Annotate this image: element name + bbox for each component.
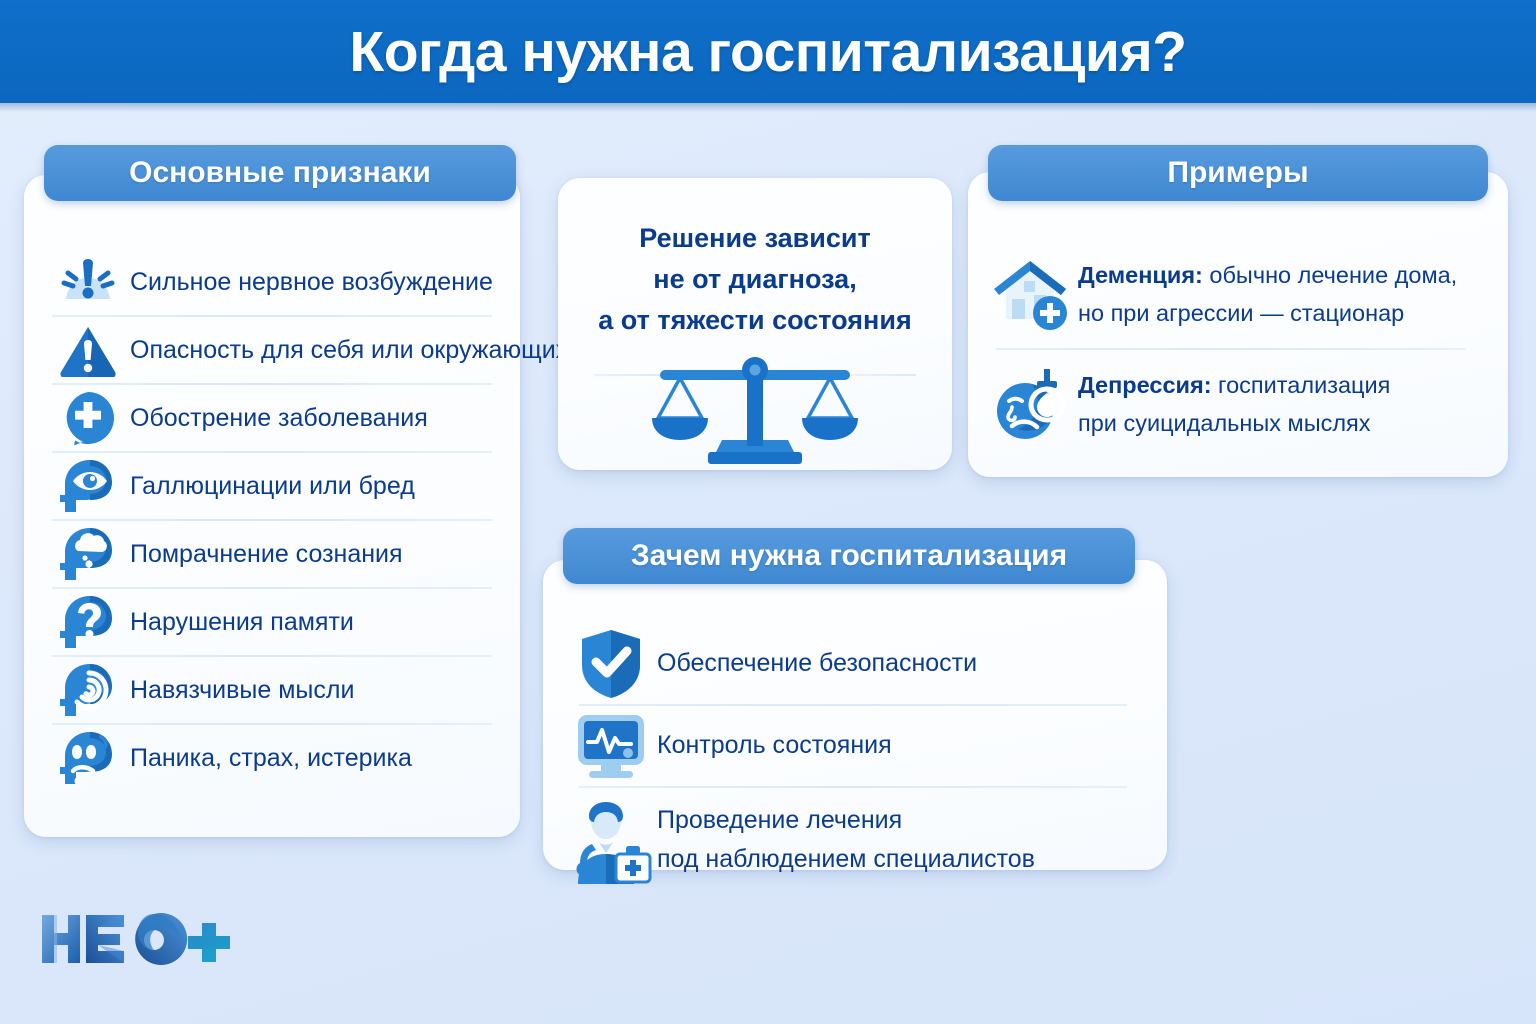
list-item[interactable]: Опасность для себя или окружающих xyxy=(46,317,498,383)
signs-list: Сильное нервное возбуждение Опасность дл… xyxy=(46,249,498,791)
balance-scales-icon xyxy=(646,356,864,469)
list-item[interactable]: Галлюцинации или бред xyxy=(46,453,498,519)
medical-cross-speech-icon xyxy=(50,390,126,446)
list-item-label: Обострение заболевания xyxy=(130,402,428,434)
head-question-icon xyxy=(50,593,126,651)
list-item-label: Галлюцинации или бред xyxy=(130,470,415,502)
list-item[interactable]: Паника, страх, истерика xyxy=(46,725,498,791)
decision-card: Решение зависит не от диагноза, а от тяж… xyxy=(558,178,952,470)
example-line-1: обычно лечение дома, xyxy=(1203,262,1457,288)
signs-card: Сильное нервное возбуждение Опасность дл… xyxy=(24,175,520,837)
list-item-label: Контроль состояния xyxy=(657,726,892,766)
list-item[interactable]: Обострение заболевания xyxy=(46,385,498,451)
list-item-label: Паника, страх, истерика xyxy=(130,742,412,774)
decision-line-2: не от диагноза, xyxy=(558,259,952,300)
signs-card-header: Основные признаки xyxy=(44,145,516,201)
example-line-2: но при агрессии — стационар xyxy=(1078,300,1404,326)
ecg-monitor-icon xyxy=(565,712,657,780)
list-item[interactable]: Контроль состояния xyxy=(565,706,1145,786)
warning-triangle-icon xyxy=(50,323,126,377)
examples-card-header-label: Примеры xyxy=(1167,156,1308,190)
list-item-label: Сильное нервное возбуждение xyxy=(130,266,493,298)
list-item[interactable]: Депрессия: госпитализация при суицидальн… xyxy=(986,350,1490,458)
decision-statement: Решение зависит не от диагноза, а от тяж… xyxy=(558,218,952,341)
examples-card-header: Примеры xyxy=(988,145,1488,201)
list-item-label: Деменция: обычно лечение дома, но при аг… xyxy=(1078,256,1457,332)
shield-check-icon xyxy=(565,627,657,701)
list-item-label: Обеспечение безопасности xyxy=(657,644,977,684)
head-eye-icon xyxy=(50,457,126,515)
house-medical-icon xyxy=(986,257,1078,331)
list-item-label: Депрессия: госпитализация при суицидальн… xyxy=(1078,366,1390,442)
list-item-label: Помрачнение сознания xyxy=(130,538,403,570)
example-bold-label: Депрессия: xyxy=(1078,372,1212,398)
list-item[interactable]: Нарушения памяти xyxy=(46,589,498,655)
decision-line-1: Решение зависит xyxy=(558,218,952,259)
header-shadow xyxy=(0,103,1536,112)
decision-line-3: а от тяжести состояния xyxy=(558,300,952,341)
list-item[interactable]: Обеспечение безопасности xyxy=(565,624,1145,704)
why-list: Обеспечение безопасности Контроль состоя… xyxy=(565,624,1145,892)
example-line-1: госпитализация xyxy=(1212,372,1391,398)
page-header: Когда нужна госпитализация? xyxy=(0,0,1536,103)
head-cloud-icon xyxy=(50,525,126,583)
page-title: Когда нужна госпитализация? xyxy=(349,19,1186,85)
example-line-2: при суицидальных мыслях xyxy=(1078,410,1371,436)
head-panic-face-icon xyxy=(50,729,126,787)
why-line-2: под наблюдением специалистов xyxy=(657,845,1035,873)
sad-face-noose-icon xyxy=(986,367,1078,441)
why-line-1: Проведение лечения xyxy=(657,806,902,834)
doctor-bag-icon xyxy=(565,796,657,884)
signs-card-header-label: Основные признаки xyxy=(129,156,431,190)
list-item-label: Нарушения памяти xyxy=(130,606,354,638)
exclamation-burst-icon xyxy=(50,255,126,309)
list-item-label: Проведение лечения под наблюдением специ… xyxy=(657,801,1035,880)
list-item[interactable]: Деменция: обычно лечение дома, но при аг… xyxy=(986,240,1490,348)
list-item-label: Навязчивые мысли xyxy=(130,674,354,706)
list-item[interactable]: Проведение лечения под наблюдением специ… xyxy=(565,788,1145,892)
why-card-header: Зачем нужна госпитализация xyxy=(563,528,1135,584)
why-card: Обеспечение безопасности Контроль состоя… xyxy=(543,560,1167,870)
list-item[interactable]: Помрачнение сознания xyxy=(46,521,498,587)
examples-card: Деменция: обычно лечение дома, но при аг… xyxy=(968,172,1508,477)
head-spiral-icon xyxy=(50,661,126,719)
brand-logo: НЕО+ xyxy=(38,893,238,949)
list-item[interactable]: Сильное нервное возбуждение xyxy=(46,249,498,315)
why-card-header-label: Зачем нужна госпитализация xyxy=(631,539,1067,573)
examples-list: Деменция: обычно лечение дома, но при аг… xyxy=(986,240,1490,458)
list-item[interactable]: Навязчивые мысли xyxy=(46,657,498,723)
example-bold-label: Деменция: xyxy=(1078,262,1203,288)
list-item-label: Опасность для себя или окружающих xyxy=(130,334,568,366)
